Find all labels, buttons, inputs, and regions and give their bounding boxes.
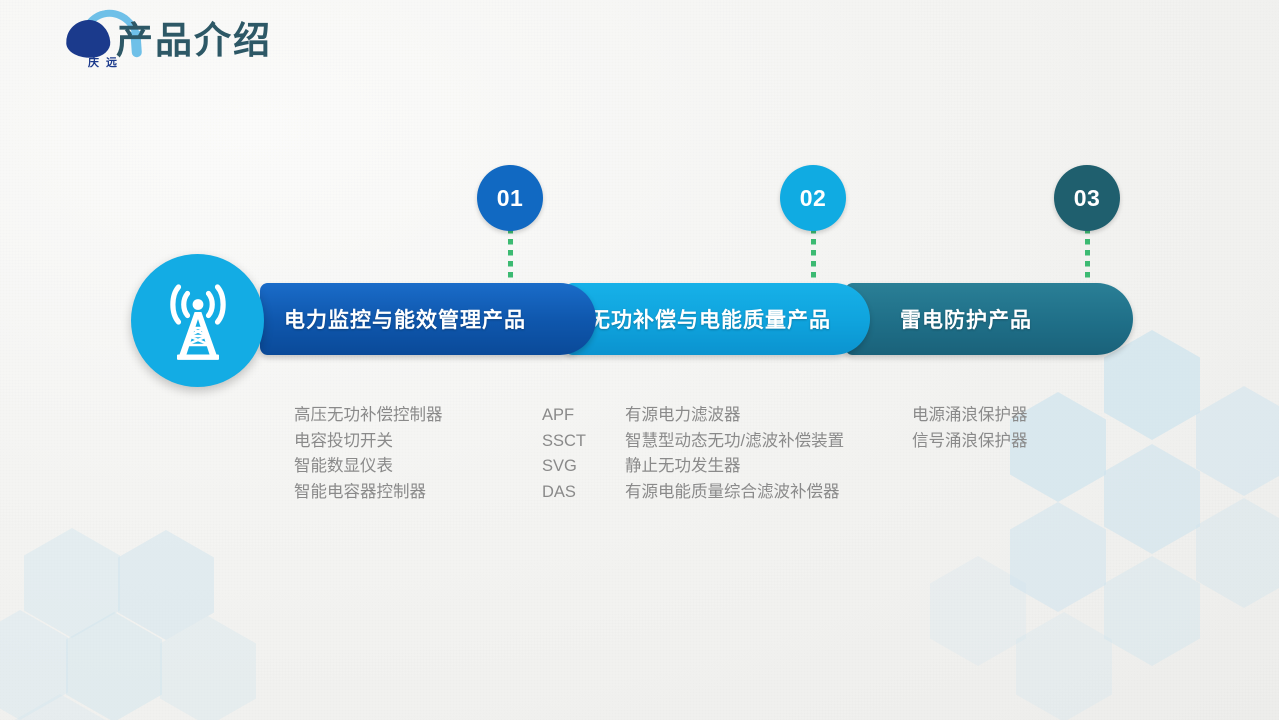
product-list-power-monitoring: 高压无功补偿控制器 电容投切开关 智能数显仪表 智能电容器控制器 — [294, 403, 443, 505]
list-item: DAS 有源电能质量综合滤波补偿器 — [542, 480, 844, 506]
list-item-desc: 有源电力滤波器 — [625, 403, 741, 429]
list-item-abbr: DAS — [542, 480, 625, 506]
list-item-desc: 有源电能质量综合滤波补偿器 — [625, 480, 840, 506]
list-item: SSCT 智慧型动态无功/滤波补偿装置 — [542, 429, 844, 455]
list-item: 信号涌浪保护器 — [912, 429, 1028, 455]
list-item: 电容投切开关 — [294, 429, 443, 455]
category-banner: 雷电防护产品 无功补偿与电能质量产品 电力监控与能效管理产品 — [0, 0, 1279, 720]
banner-segment-reactive-power[interactable]: 无功补偿与电能质量产品 — [565, 283, 870, 355]
banner-segment-label: 电力监控与能效管理产品 — [284, 304, 526, 334]
broadcast-tower-icon — [131, 254, 264, 387]
product-list-lightning-protection: 电源涌浪保护器 信号涌浪保护器 — [912, 403, 1028, 454]
list-item: APF 有源电力滤波器 — [542, 403, 844, 429]
banner-segment-power-monitoring[interactable]: 电力监控与能效管理产品 — [260, 283, 596, 355]
list-item: 智能电容器控制器 — [294, 480, 443, 506]
list-item: 高压无功补偿控制器 — [294, 403, 443, 429]
list-item: SVG 静止无功发生器 — [542, 454, 844, 480]
list-item-abbr: APF — [542, 403, 625, 429]
product-list-reactive-power: APF 有源电力滤波器 SSCT 智慧型动态无功/滤波补偿装置 SVG 静止无功… — [542, 403, 844, 505]
list-item: 电源涌浪保护器 — [912, 403, 1028, 429]
list-item-abbr: SSCT — [542, 429, 625, 455]
banner-segment-lightning-protection[interactable]: 雷电防护产品 — [845, 283, 1133, 355]
list-item-abbr: SVG — [542, 454, 625, 480]
banner-segment-label: 雷电防护产品 — [900, 304, 1032, 334]
banner-segment-label: 无功补偿与电能质量产品 — [589, 304, 831, 334]
list-item-desc: 静止无功发生器 — [625, 454, 741, 480]
list-item: 智能数显仪表 — [294, 454, 443, 480]
list-item-desc: 智慧型动态无功/滤波补偿装置 — [625, 429, 844, 455]
